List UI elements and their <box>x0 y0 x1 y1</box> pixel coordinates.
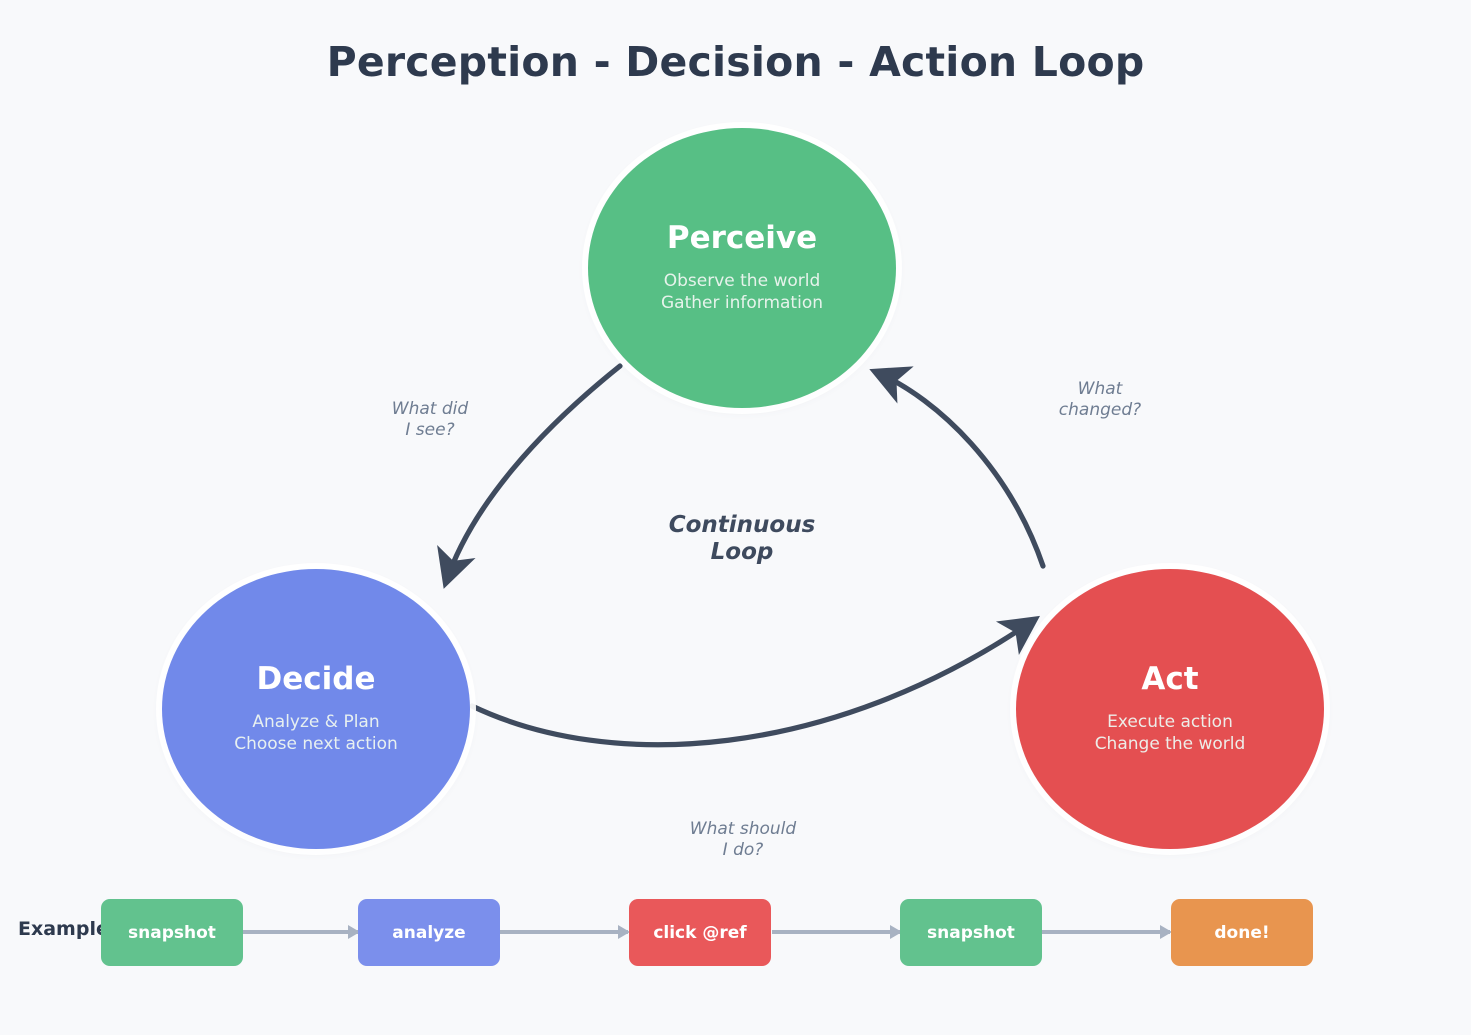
example-step-label: click @ref <box>653 923 746 943</box>
page-title: Perception - Decision - Action Loop <box>0 38 1471 86</box>
edge-label-decide-to-act: What should I do? <box>662 819 824 862</box>
node-act-title: Act <box>1141 662 1198 696</box>
example-step-click-ref[interactable]: click @ref <box>629 899 771 966</box>
node-act[interactable]: Act Execute action Change the world <box>1016 569 1324 849</box>
example-connector-2 <box>500 930 628 934</box>
node-decide[interactable]: Decide Analyze & Plan Choose next action <box>162 569 470 849</box>
example-connector-3 <box>772 930 900 934</box>
edge-label-act-to-perceive: What changed? <box>1032 379 1168 422</box>
example-flow: Example: snapshot analyze click @ref sna… <box>0 897 1471 969</box>
example-step-label: analyze <box>392 923 465 943</box>
example-step-done[interactable]: done! <box>1171 899 1313 966</box>
example-step-snapshot-1[interactable]: snapshot <box>101 899 243 966</box>
example-connector-4 <box>1042 930 1170 934</box>
diagram-canvas: Perception - Decision - Action Loop Perc… <box>0 0 1471 1035</box>
node-perceive[interactable]: Perceive Observe the world Gather inform… <box>588 128 896 408</box>
example-connector-1 <box>243 930 358 934</box>
arrow-decide-to-act <box>472 620 1034 745</box>
example-step-label: snapshot <box>128 923 216 943</box>
example-step-label: done! <box>1214 923 1269 943</box>
example-step-label: snapshot <box>927 923 1015 943</box>
center-loop-label: Continuous Loop <box>632 512 852 566</box>
node-act-subtitle: Execute action Change the world <box>1095 712 1246 756</box>
arrow-act-to-perceive <box>876 372 1043 566</box>
node-perceive-title: Perceive <box>667 221 817 255</box>
node-perceive-subtitle: Observe the world Gather information <box>661 271 823 315</box>
node-decide-title: Decide <box>257 662 376 696</box>
edge-label-perceive-to-decide: What did I see? <box>360 399 500 442</box>
example-step-analyze[interactable]: analyze <box>358 899 500 966</box>
node-decide-subtitle: Analyze & Plan Choose next action <box>234 712 398 756</box>
example-step-snapshot-2[interactable]: snapshot <box>900 899 1042 966</box>
